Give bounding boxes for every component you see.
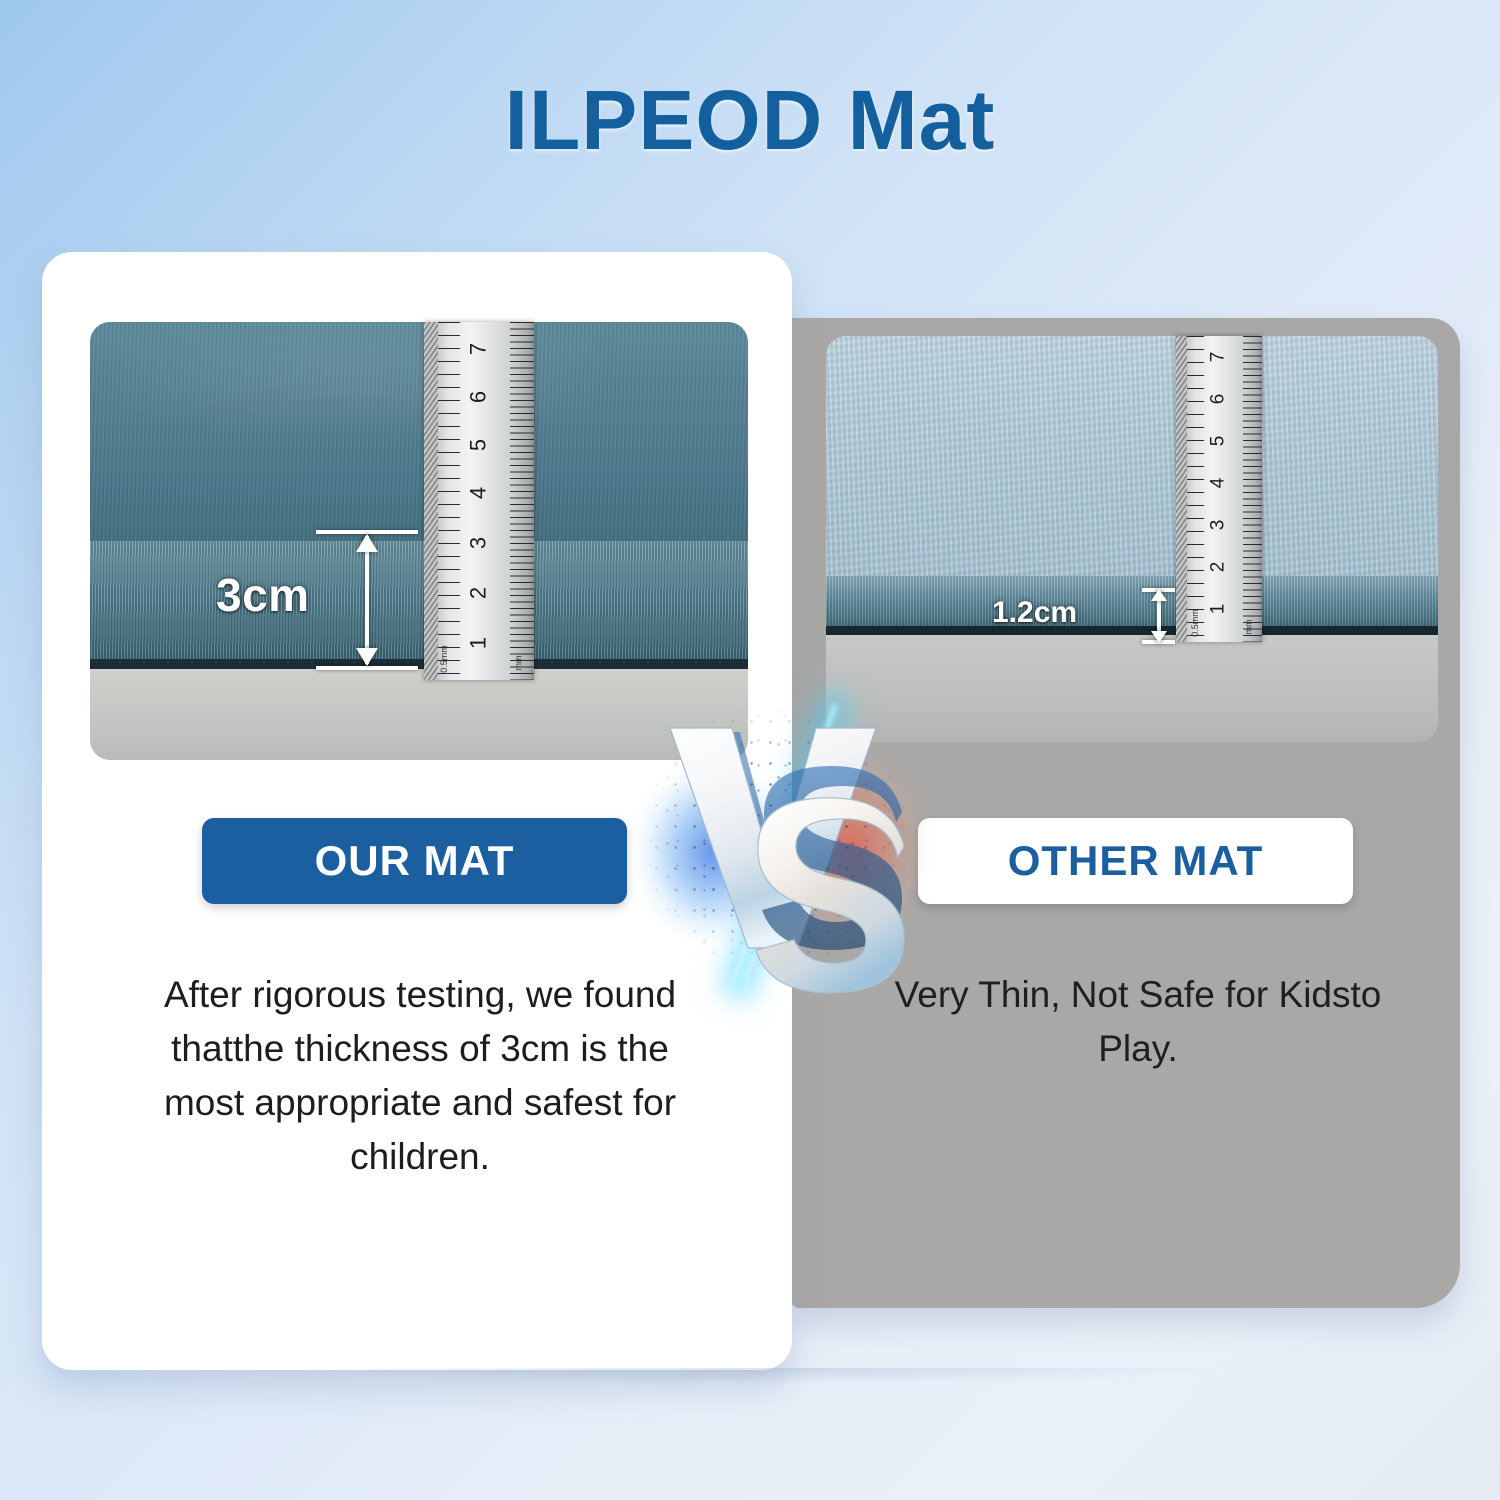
other-mat-description: Very Thin, Not Safe for Kidsto Play. <box>888 968 1388 1076</box>
ruler-number: 1 <box>466 624 492 661</box>
steel-ruler-right: 1 2 3 4 5 6 7 0.5mm mm <box>1176 336 1262 642</box>
arrow-down-icon <box>356 648 378 666</box>
ruler-scale-label: 0.5mm <box>439 645 449 673</box>
page-title: ILPEOD Mat <box>0 72 1500 169</box>
our-mat-description: After rigorous testing, we found thatthe… <box>140 968 700 1184</box>
thickness-value: 1.2cm <box>992 596 1077 630</box>
mat-top-surface <box>826 336 1438 576</box>
ruler-mm-ticks <box>1243 336 1262 642</box>
versus-graphic <box>628 690 920 990</box>
arrow-down-icon <box>1151 631 1167 643</box>
ruler-number: 2 <box>1208 552 1230 581</box>
ruler-cm-ticks <box>438 322 460 680</box>
infographic-stage: ILPEOD Mat 1 2 3 4 5 6 7 0.5mm mm <box>0 0 1500 1500</box>
ruler-number: 2 <box>466 574 492 611</box>
ruler-knurled-edge <box>1176 336 1187 642</box>
ruler-knurled-edge <box>424 322 438 680</box>
mat-bottom-seam <box>90 659 748 669</box>
ruler-unit-label: mm <box>514 656 524 671</box>
our-mat-badge: OUR MAT <box>202 818 627 904</box>
ruler-number: 7 <box>1208 342 1230 371</box>
ruler-number: 4 <box>466 474 492 511</box>
other-mat-badge: OTHER MAT <box>918 818 1353 904</box>
steel-ruler-left: 1 2 3 4 5 6 7 0.5mm mm <box>424 322 534 680</box>
arrow-up-icon <box>356 534 378 552</box>
card-drop-shadow <box>120 1368 1420 1414</box>
mat-side-edge <box>90 541 748 659</box>
ruler-number: 3 <box>1208 510 1230 539</box>
ruler-number: 7 <box>466 330 492 367</box>
ruler-mm-ticks <box>510 322 534 680</box>
measure-arrow-shaft <box>365 536 369 664</box>
other-mat-photo <box>826 336 1438 742</box>
ruler-numbers: 1 2 3 4 5 6 7 <box>460 322 497 680</box>
measure-cap-bottom <box>316 666 418 670</box>
ruler-cm-ticks <box>1187 336 1204 642</box>
vs-letters <box>628 690 920 990</box>
ruler-number: 6 <box>466 378 492 415</box>
our-mat-thickness-annotation: 3cm <box>288 530 418 670</box>
ruler-number: 4 <box>1208 468 1230 497</box>
ruler-number: 3 <box>466 524 492 561</box>
ruler-number: 5 <box>466 426 492 463</box>
arrow-up-icon <box>1151 589 1167 601</box>
mat-top-surface <box>90 322 748 541</box>
ruler-number: 6 <box>1208 384 1230 413</box>
other-mat-thickness-annotation: 1.2cm <box>1060 588 1175 644</box>
thickness-value: 3cm <box>216 568 310 622</box>
ruler-number: 5 <box>1208 426 1230 455</box>
ruler-scale-label: 0.5mm <box>1190 609 1200 637</box>
ruler-unit-label: mm <box>1244 620 1254 635</box>
ruler-numbers: 1 2 3 4 5 6 7 <box>1204 336 1233 642</box>
ruler-number: 1 <box>1208 594 1230 623</box>
